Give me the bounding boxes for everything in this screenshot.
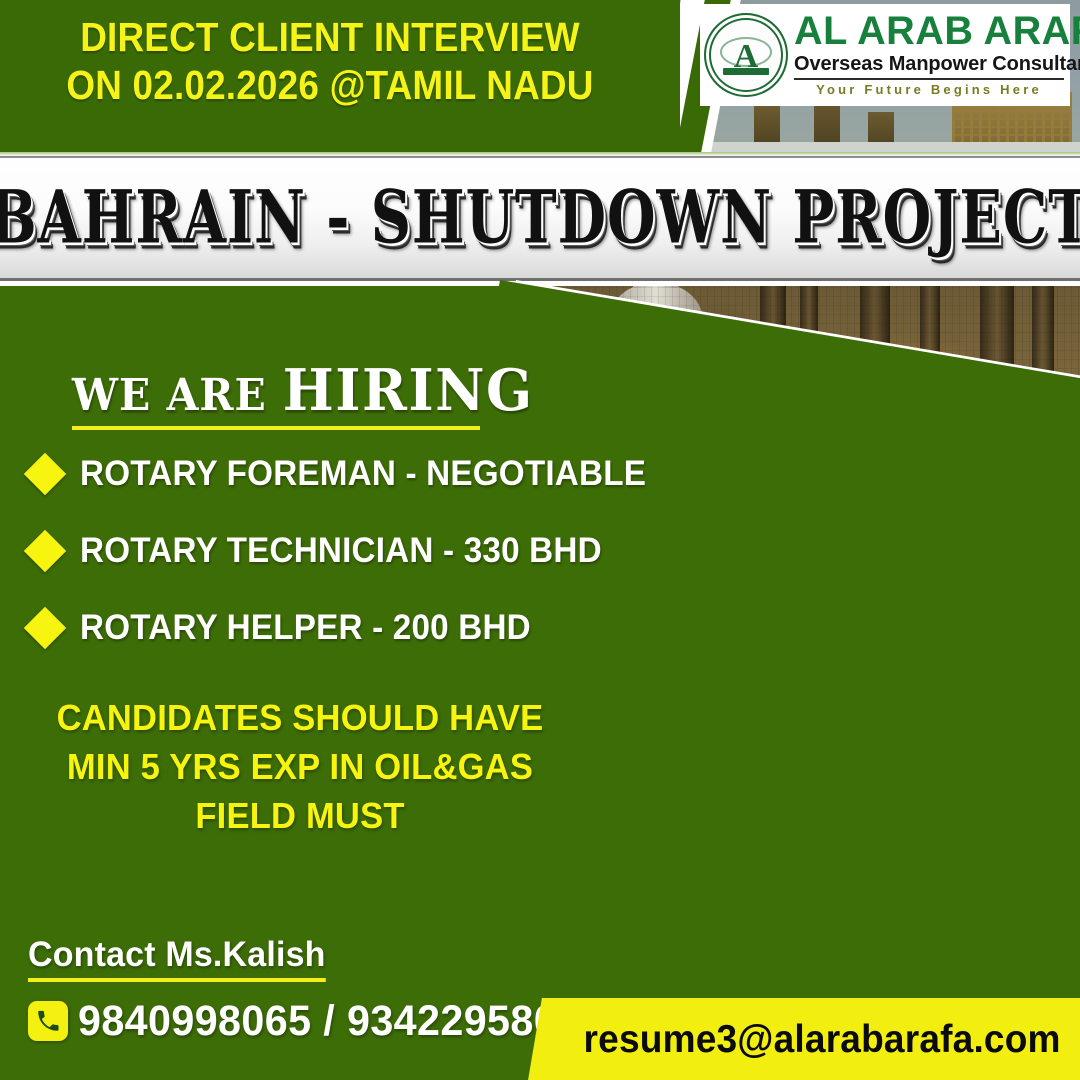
diamond-bullet-icon <box>24 452 66 494</box>
list-item: ROTARY TECHNICIAN - 330 BHD <box>30 533 630 568</box>
email-address[interactable]: resume3@alarabarafa.com <box>584 1020 1061 1059</box>
hiring-underline <box>72 426 480 430</box>
company-logo: A AL ARAB ARAFA Overseas Manpower Consul… <box>700 4 1070 106</box>
job-label: ROTARY HELPER - 200 BHD <box>80 610 531 645</box>
phone-numbers[interactable]: 9840998065 / 9342295800 <box>78 1000 580 1043</box>
job-label: ROTARY TECHNICIAN - 330 BHD <box>80 533 602 568</box>
list-item: ROTARY HELPER - 200 BHD <box>30 610 630 645</box>
hiring-small-text: WE ARE <box>72 369 267 421</box>
company-name: AL ARAB ARAFA <box>794 12 1061 51</box>
contact-person: Contact Ms.Kalish <box>28 936 326 982</box>
we-are-hiring-heading: WE ARE HIRING <box>72 358 534 430</box>
job-label: ROTARY FOREMAN - NEGOTIABLE <box>80 456 646 491</box>
requirements-text: CANDIDATES SHOULD HAVE MIN 5 YRS EXP IN … <box>50 694 549 841</box>
header-band: DIRECT CLIENT INTERVIEW ON 02.02.2026 @T… <box>0 0 1080 152</box>
telephone-icon <box>28 1001 68 1041</box>
diamond-bullet-icon <box>24 606 66 648</box>
project-title: BAHRAIN - SHUTDOWN PROJECT <box>0 175 1080 260</box>
company-subtitle: Overseas Manpower Consultancy <box>794 52 1064 76</box>
list-item: ROTARY FOREMAN - NEGOTIABLE <box>30 456 630 491</box>
company-tagline: Your Future Begins Here <box>794 82 1064 98</box>
diamond-bullet-icon <box>24 529 66 571</box>
phone-row: 9840998065 / 9342295800 <box>28 1000 588 1043</box>
recruitment-poster: DIRECT CLIENT INTERVIEW ON 02.02.2026 @T… <box>0 0 1080 1080</box>
hiring-large-text: HIRING <box>283 356 534 424</box>
project-title-bar: BAHRAIN - SHUTDOWN PROJECT <box>0 156 1080 278</box>
emblem-icon: A <box>704 13 788 97</box>
job-list: ROTARY FOREMAN - NEGOTIABLE ROTARY TECHN… <box>30 456 630 687</box>
emblem-base <box>723 68 769 75</box>
contact-block: Contact Ms.Kalish 9840998065 / 934229580… <box>28 936 588 1043</box>
email-bar[interactable]: resume3@alarabarafa.com <box>565 998 1080 1080</box>
logo-divider <box>794 78 1064 80</box>
headline-text: DIRECT CLIENT INTERVIEW ON 02.02.2026 @T… <box>33 14 627 109</box>
content-panel: WE ARE HIRING ROTARY FOREMAN - NEGOTIABL… <box>0 286 640 1080</box>
